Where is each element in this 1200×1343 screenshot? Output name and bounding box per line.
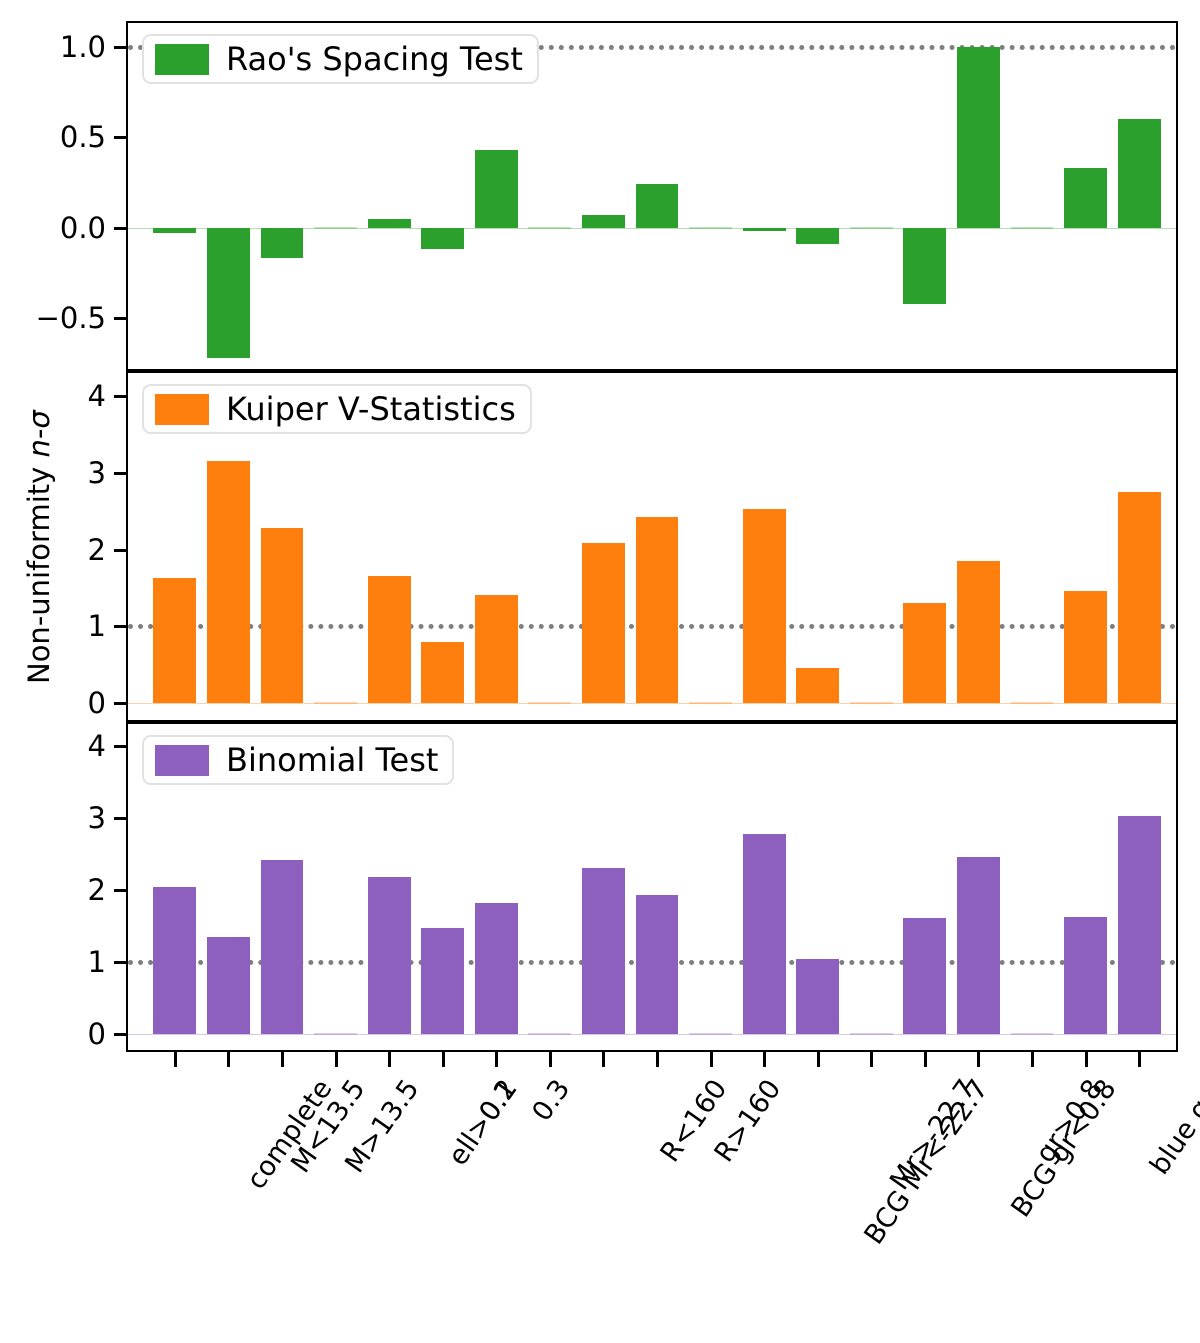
bar bbox=[368, 877, 411, 1034]
y-tick-mark bbox=[114, 136, 126, 139]
y-tick-mark bbox=[114, 961, 126, 964]
x-tick-mark bbox=[442, 1052, 445, 1067]
legend-label-kuiper: Kuiper V-Statistics bbox=[226, 393, 516, 425]
bar bbox=[743, 509, 786, 703]
bar bbox=[261, 528, 304, 703]
y-tick-mark bbox=[114, 395, 126, 398]
y-tick-mark bbox=[114, 317, 126, 320]
bar bbox=[689, 227, 732, 229]
bar bbox=[528, 1033, 571, 1035]
bar bbox=[1118, 119, 1161, 228]
bar bbox=[1118, 816, 1161, 1034]
legend-binomial-test: Binomial Test bbox=[142, 735, 454, 785]
y-tick-label: 1 bbox=[0, 609, 106, 643]
y-tick-label: 0.0 bbox=[0, 211, 106, 245]
bar bbox=[957, 857, 1000, 1034]
bar bbox=[421, 642, 464, 703]
y-tick-mark bbox=[114, 745, 126, 748]
bar bbox=[207, 937, 250, 1034]
bar bbox=[903, 918, 946, 1034]
bar bbox=[582, 215, 625, 228]
bar bbox=[314, 702, 357, 704]
x-tick-mark bbox=[1031, 1052, 1034, 1067]
bar bbox=[528, 227, 571, 229]
legend-rao-spacing-test: Rao's Spacing Test bbox=[142, 34, 539, 84]
bar bbox=[1011, 702, 1054, 704]
y-axis-label-math: n-σ bbox=[22, 410, 56, 457]
legend-swatch-green bbox=[155, 44, 209, 75]
bar bbox=[528, 702, 571, 704]
x-tick-mark bbox=[549, 1052, 552, 1067]
y-tick-label: 1.0 bbox=[0, 30, 106, 64]
bar bbox=[582, 543, 625, 703]
y-tick-label: 3 bbox=[0, 456, 106, 490]
x-tick-mark bbox=[602, 1052, 605, 1067]
bar bbox=[743, 228, 786, 232]
y-tick-label: 0 bbox=[0, 686, 106, 720]
bar bbox=[689, 1033, 732, 1035]
bar bbox=[957, 561, 1000, 703]
y-tick-mark bbox=[114, 227, 126, 230]
panel-kuiper-v-statistics: Kuiper V-Statistics bbox=[126, 371, 1178, 722]
panel-binomial-test: Binomial Test bbox=[126, 722, 1178, 1052]
bar bbox=[1011, 227, 1054, 229]
bar bbox=[850, 702, 893, 704]
y-tick-mark bbox=[114, 702, 126, 705]
bar bbox=[475, 903, 518, 1034]
bar bbox=[957, 47, 1000, 228]
y-tick-label: 4 bbox=[0, 379, 106, 413]
x-tick-mark bbox=[388, 1052, 391, 1067]
bar bbox=[636, 895, 679, 1034]
x-tick-label: blue gal bbox=[1144, 1074, 1200, 1180]
bar bbox=[368, 219, 411, 228]
legend-kuiper-v-statistics: Kuiper V-Statistics bbox=[142, 384, 532, 434]
x-tick-mark bbox=[817, 1052, 820, 1067]
bar bbox=[1011, 1033, 1054, 1035]
y-tick-label: 2 bbox=[0, 873, 106, 907]
y-tick-label: 2 bbox=[0, 533, 106, 567]
y-tick-label: 3 bbox=[0, 801, 106, 835]
bar bbox=[903, 603, 946, 703]
y-tick-mark bbox=[114, 889, 126, 892]
bar bbox=[314, 1033, 357, 1035]
legend-swatch-orange bbox=[155, 394, 209, 425]
y-tick-label: −0.5 bbox=[0, 301, 106, 335]
bar bbox=[153, 887, 196, 1034]
bar bbox=[1064, 591, 1107, 703]
bar bbox=[314, 227, 357, 229]
bar bbox=[1118, 492, 1161, 703]
bar bbox=[475, 595, 518, 703]
x-tick-mark bbox=[174, 1052, 177, 1067]
bar bbox=[796, 228, 839, 244]
bar bbox=[207, 228, 250, 358]
bar bbox=[796, 668, 839, 703]
bar bbox=[207, 461, 250, 703]
bar bbox=[1064, 168, 1107, 228]
y-tick-mark bbox=[114, 472, 126, 475]
bar bbox=[153, 578, 196, 703]
x-tick-mark bbox=[227, 1052, 230, 1067]
bar bbox=[261, 860, 304, 1035]
x-tick-mark bbox=[710, 1052, 713, 1067]
panel-rao-spacing-test: Rao's Spacing Test bbox=[126, 21, 1178, 371]
bar bbox=[475, 150, 518, 228]
x-tick-mark bbox=[656, 1052, 659, 1067]
y-tick-label: 1 bbox=[0, 945, 106, 979]
bar bbox=[636, 184, 679, 227]
x-tick-mark bbox=[495, 1052, 498, 1067]
legend-swatch-purple bbox=[155, 745, 209, 776]
y-tick-mark bbox=[114, 549, 126, 552]
bar bbox=[689, 702, 732, 704]
y-tick-mark bbox=[114, 1033, 126, 1036]
bar bbox=[582, 868, 625, 1034]
y-axis-label-text: Non-uniformity bbox=[22, 457, 56, 684]
bar bbox=[903, 228, 946, 304]
bar bbox=[261, 228, 304, 259]
bar bbox=[850, 227, 893, 229]
bar bbox=[421, 928, 464, 1034]
legend-label-binomial: Binomial Test bbox=[226, 744, 438, 776]
bar bbox=[636, 517, 679, 703]
bar bbox=[796, 959, 839, 1034]
x-tick-mark bbox=[1138, 1052, 1141, 1067]
bar bbox=[153, 228, 196, 233]
y-tick-label: 4 bbox=[0, 729, 106, 763]
x-tick-mark bbox=[763, 1052, 766, 1067]
bar bbox=[368, 576, 411, 703]
x-tick-mark bbox=[870, 1052, 873, 1067]
y-tick-mark bbox=[114, 817, 126, 820]
y-tick-label: 0 bbox=[0, 1017, 106, 1051]
y-tick-label: 0.5 bbox=[0, 120, 106, 154]
bar bbox=[421, 228, 464, 250]
figure-root: Non-uniformity n-σ Rao's Spacing Test Ku… bbox=[0, 0, 1200, 1343]
bar bbox=[743, 834, 786, 1034]
x-tick-mark bbox=[924, 1052, 927, 1067]
legend-label-rao: Rao's Spacing Test bbox=[226, 43, 523, 75]
y-tick-mark bbox=[114, 625, 126, 628]
x-tick-mark bbox=[977, 1052, 980, 1067]
x-tick-mark bbox=[1085, 1052, 1088, 1067]
bar bbox=[1064, 917, 1107, 1035]
y-tick-mark bbox=[114, 46, 126, 49]
x-tick-mark bbox=[335, 1052, 338, 1067]
x-tick-label: 0.3 bbox=[527, 1074, 577, 1127]
bar bbox=[850, 1033, 893, 1035]
x-tick-mark bbox=[281, 1052, 284, 1067]
